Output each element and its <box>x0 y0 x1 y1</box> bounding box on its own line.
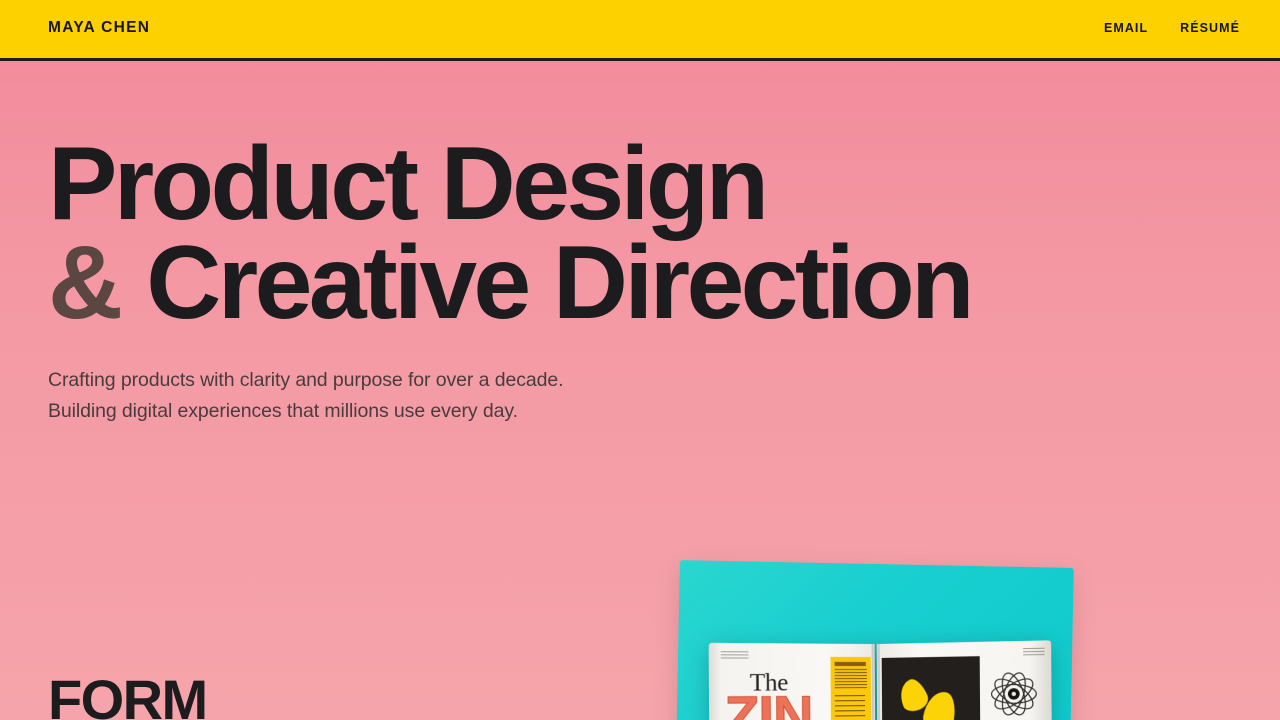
nav-link-email[interactable]: EMAIL <box>1104 21 1148 35</box>
magazine-page-right <box>877 640 1052 720</box>
headline-line-2-text: Creative Direction <box>121 225 971 341</box>
primary-nav: EMAIL RÉSUMÉ <box>1104 21 1240 35</box>
brand-name[interactable]: MAYA CHEN <box>48 19 150 37</box>
headline-line-2: & Creative Direction <box>48 234 1280 333</box>
yellow-column-list <box>835 695 865 720</box>
page-root: MAYA CHEN EMAIL RÉSUMÉ Product Design & … <box>0 0 1280 720</box>
page-slug-left <box>721 651 749 659</box>
hero-subtitle-line-1: Crafting products with clarity and purpo… <box>48 365 1280 397</box>
magazine-yellow-column <box>831 657 872 720</box>
site-header: MAYA CHEN EMAIL RÉSUMÉ <box>0 0 1280 61</box>
page-title: Product Design & Creative Direction <box>48 135 1280 334</box>
yellow-column-heading <box>835 662 866 666</box>
hero-subtitle: Crafting products with clarity and purpo… <box>48 365 1280 429</box>
hero-artwork: The ZIN <box>660 550 1100 720</box>
magazine-spread: The ZIN <box>715 643 1046 720</box>
magazine-masthead-title: ZIN <box>724 688 812 720</box>
book-spine <box>872 644 881 720</box>
hero-section: Product Design & Creative Direction Craf… <box>0 61 1280 428</box>
hero-subtitle-line-2: Building digital experiences that millio… <box>48 396 1280 428</box>
headline-line-1: Product Design <box>48 135 1280 234</box>
magazine-dark-panel <box>882 656 981 720</box>
nav-link-resume[interactable]: RÉSUMÉ <box>1180 21 1240 35</box>
magazine-page-left: The ZIN <box>709 643 876 720</box>
page-number-right <box>1023 648 1045 656</box>
section-heading-form: FORM <box>48 672 207 720</box>
ampersand-glyph: & <box>48 225 121 341</box>
atom-diagram-icon <box>987 668 1041 720</box>
yellow-column-body <box>835 669 867 689</box>
